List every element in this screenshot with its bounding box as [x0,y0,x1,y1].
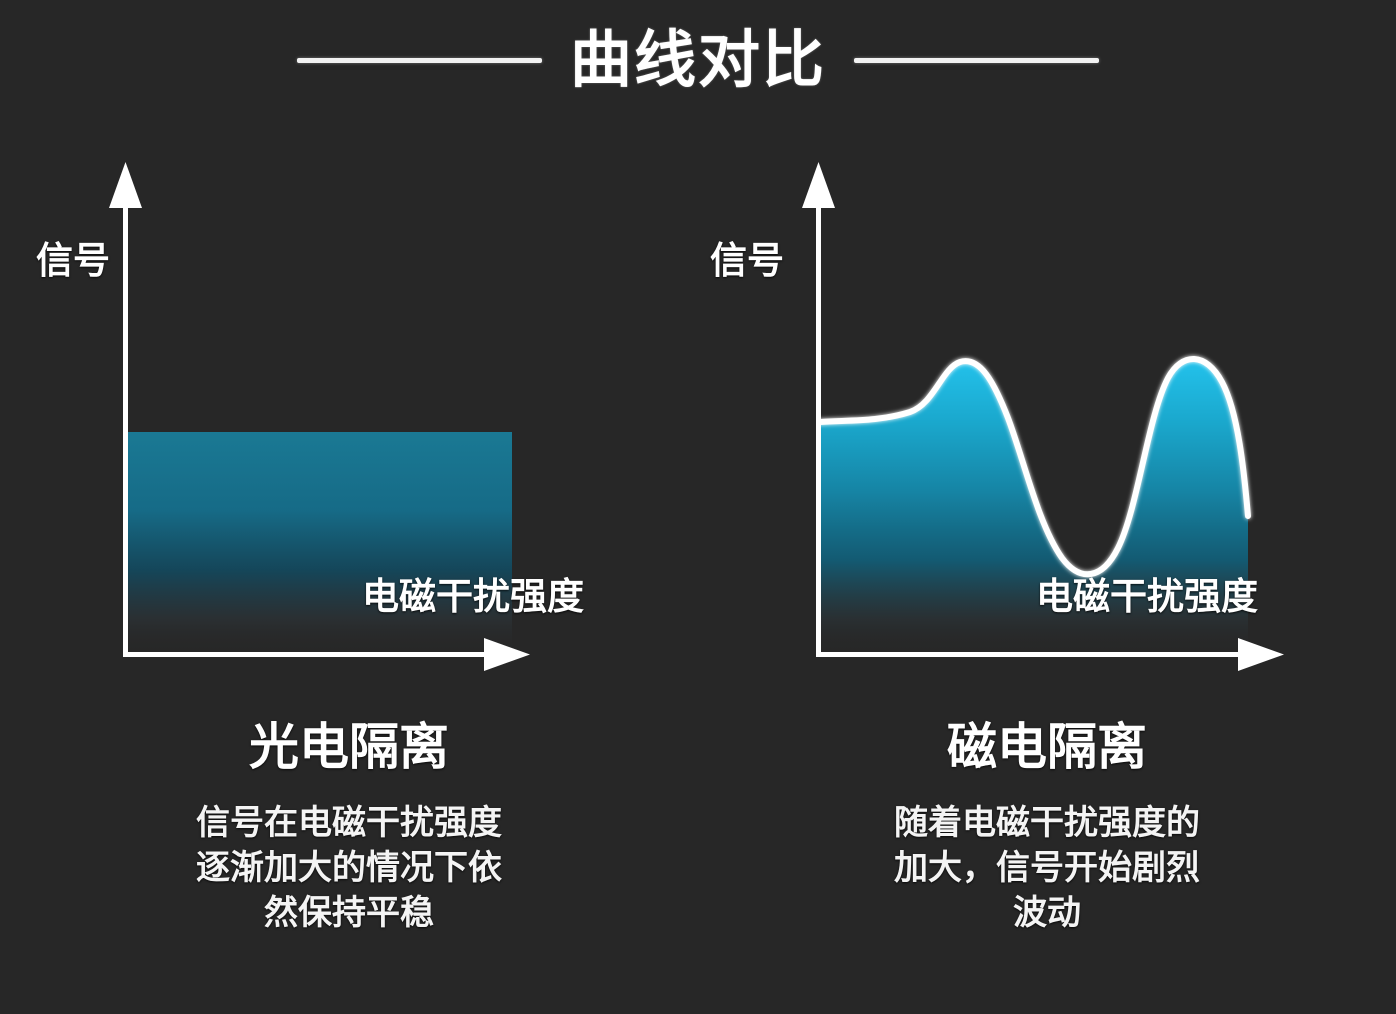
caption-body: 随着电磁干扰强度的 加大，信号开始剧烈 波动 [698,801,1396,937]
caption-title: 光电隔离 [0,720,698,775]
signal-area-fill [128,432,512,655]
title-rule-right [854,58,1099,63]
title-rule-left [297,58,542,63]
magnetoelectric-isolation-plot [698,120,1396,710]
chart-magnetoelectric-isolation: 信号 电磁干扰强度 [698,120,1396,710]
y-axis-label: 信号 [710,242,784,279]
chart-photoelectric-isolation: 信号 电磁干扰强度 [0,120,698,710]
caption-line: 随着电磁干扰强度的 [698,801,1396,846]
x-axis-label: 电磁干扰强度 [1036,578,1258,615]
caption-photoelectric-isolation: 光电隔离 信号在电磁干扰强度 逐渐加大的情况下依 然保持平稳 [0,720,698,937]
panel-photoelectric-isolation: 信号 电磁干扰强度 光电隔离 信号在电磁干扰强度 逐渐加大的情况下依 然保持平稳 [0,120,698,1014]
caption-title: 磁电隔离 [698,720,1396,775]
y-axis-arrow-icon [109,162,142,208]
caption-magnetoelectric-isolation: 磁电隔离 随着电磁干扰强度的 加大，信号开始剧烈 波动 [698,720,1396,937]
x-axis-line [123,652,503,657]
caption-line: 逐渐加大的情况下依 [0,846,698,891]
caption-line: 信号在电磁干扰强度 [0,801,698,846]
x-axis-arrow-icon [1238,638,1284,671]
caption-line: 然保持平稳 [0,891,698,936]
y-axis-line [816,195,821,655]
comparison-panels: 信号 电磁干扰强度 光电隔离 信号在电磁干扰强度 逐渐加大的情况下依 然保持平稳 [0,120,1396,1014]
photoelectric-isolation-plot [0,120,698,710]
x-axis-line [816,652,1256,657]
y-axis-line [123,195,128,655]
caption-line: 加大，信号开始剧烈 [698,846,1396,891]
page-title: 曲线对比 [570,29,826,91]
caption-line: 波动 [698,891,1396,936]
y-axis-arrow-icon [802,162,835,208]
y-axis-label: 信号 [36,242,110,279]
caption-body: 信号在电磁干扰强度 逐渐加大的情况下依 然保持平稳 [0,801,698,937]
x-axis-label: 电磁干扰强度 [362,578,584,615]
panel-magnetoelectric-isolation: 信号 电磁干扰强度 磁电隔离 随着电磁干扰强度的 加大，信号开始剧烈 波动 [698,120,1396,1014]
page-title-row: 曲线对比 [0,0,1396,120]
